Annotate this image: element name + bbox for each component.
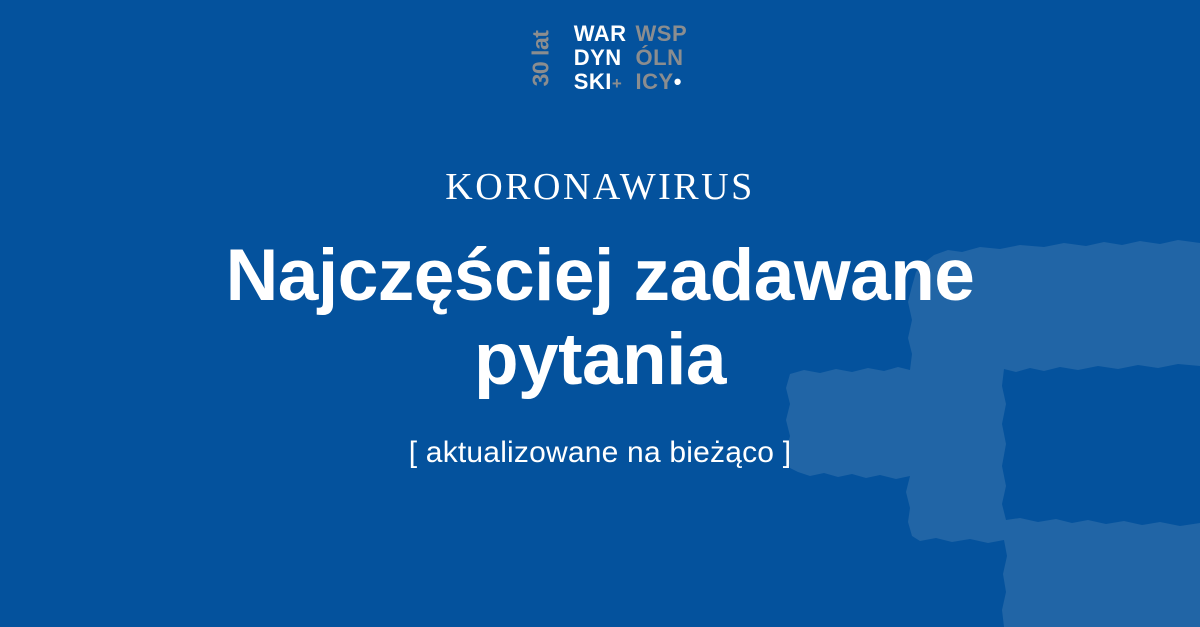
logo-wspolnicy-block: WSP ÓLN ICY• bbox=[636, 22, 688, 94]
logo-line-icy-text: ICY bbox=[636, 69, 674, 94]
logo-plus-icon: + bbox=[612, 74, 622, 93]
logo-line-wsp: WSP bbox=[636, 22, 688, 46]
logo-line-dyn: DYN bbox=[574, 46, 627, 70]
logo-wardynski-block: WAR DYN SKI+ bbox=[574, 22, 627, 96]
logo-line-ski-text: SKI bbox=[574, 69, 612, 94]
koronawirus-faq-banner: 30 lat WAR DYN SKI+ WSP ÓLN ICY• KORONAW… bbox=[0, 0, 1200, 627]
wardynski-wspolnicy-logo[interactable]: 30 lat WAR DYN SKI+ WSP ÓLN ICY• bbox=[513, 22, 687, 94]
hero-eyebrow: KORONAWIRUS bbox=[0, 168, 1200, 206]
logo-line-icy: ICY• bbox=[636, 70, 688, 94]
logo-line-ski: SKI+ bbox=[574, 70, 627, 96]
hero-subtitle: [ aktualizowane na bieżąco ] bbox=[0, 438, 1200, 468]
logo-line-war: WAR bbox=[574, 22, 627, 46]
logo-line-oln: ÓLN bbox=[636, 46, 688, 70]
logo-anniversary: 30 lat bbox=[513, 22, 569, 94]
page-title: Najczęściej zadawane pytania bbox=[0, 234, 1200, 402]
logo-dot-icon: • bbox=[674, 69, 682, 94]
logo-anniversary-text: 30 lat bbox=[529, 30, 552, 86]
